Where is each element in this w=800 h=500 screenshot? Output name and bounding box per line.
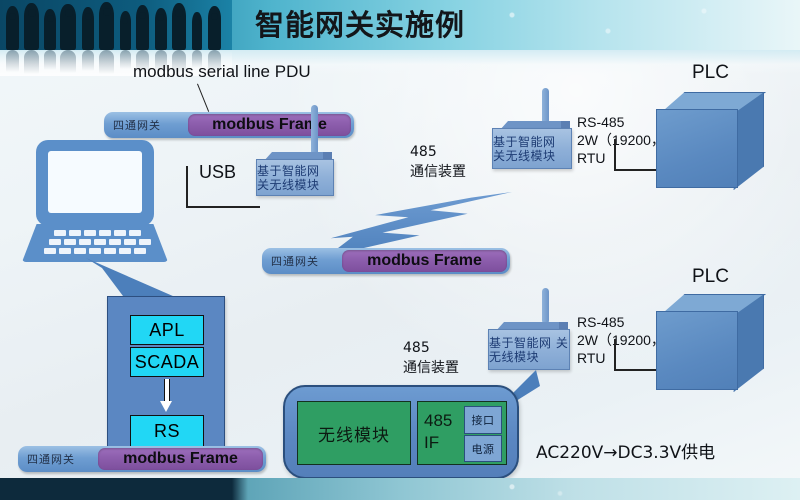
cube-front-face <box>656 311 738 390</box>
cube-front-face <box>656 109 738 188</box>
subbox-power: 电源 <box>464 435 502 462</box>
usb-line-vertical <box>186 166 188 208</box>
slide-footer-band <box>0 478 800 500</box>
antenna-mid <box>311 105 318 155</box>
usb-label: USB <box>199 162 236 183</box>
green-wireless-module: 无线模块 <box>297 401 411 465</box>
wireless-module-top: 基于智能网 关无线模块 <box>492 121 570 169</box>
power-supply-note: AC220V→DC3.3V供电 <box>536 438 715 463</box>
wireless-module-top-label: 基于智能网 关无线模块 <box>492 128 572 169</box>
plc-label-bottom: PLC <box>692 266 729 288</box>
laptop-icon <box>22 140 168 264</box>
stack-layer-rs: RS <box>130 415 204 447</box>
stack-layer-scada: SCADA <box>130 347 204 377</box>
slide-canvas: 智能网关实施例 modbus serial line PDU 四通网关 modb… <box>0 0 800 500</box>
plc-cube-top <box>656 92 764 188</box>
laptop-screen <box>48 151 142 213</box>
gateway-label-middle: 四通网关 <box>271 248 319 274</box>
laptop-to-stack-callout <box>86 258 182 300</box>
device-enclosure: 无线模块 485 IF 接口 电源 <box>283 385 519 479</box>
plc-cube-bottom <box>656 294 764 390</box>
frame-bar-bottom: 四通网关 modbus Frame <box>18 446 266 472</box>
plc-label-top: PLC <box>692 62 729 84</box>
stack-layer-apl: APL <box>130 315 204 345</box>
gateway-label-bottom: 四通网关 <box>27 446 75 472</box>
green-485-if-module: 485 IF 接口 电源 <box>417 401 507 465</box>
wireless-module-bottom-label: 基于智能网 关无线模块 <box>488 329 570 370</box>
wireless-module-usb-label: 基于智能网 关无线模块 <box>256 159 334 196</box>
frame-bar-middle: 四通网关 modbus Frame <box>262 248 510 274</box>
rs485-line-vertical-bottom <box>614 339 616 371</box>
laptop-lid <box>36 140 154 226</box>
if-485-label: 485 IF <box>424 410 452 454</box>
stack-flow-arrow <box>160 379 172 413</box>
modbus-frame-label-top: modbus Frame <box>188 114 351 136</box>
rs485-line-vertical-top <box>614 139 616 171</box>
pdu-leader-line <box>197 83 210 111</box>
protocol-stack-panel: APL SCADA RS <box>107 296 225 456</box>
device-485-label-bottom: 485 通信装置 <box>403 338 459 378</box>
device-485-label-top: 485 通信装置 <box>410 142 466 182</box>
laptop-base <box>22 224 168 262</box>
page-title: 智能网关实施例 <box>255 5 595 47</box>
modbus-frame-label-middle: modbus Frame <box>342 250 507 272</box>
usb-line-horizontal <box>186 206 260 208</box>
gateway-label-top: 四通网关 <box>113 112 161 138</box>
wireless-module-bottom: 基于智能网 关无线模块 <box>488 322 568 370</box>
wireless-module-usb: 基于智能网 关无线模块 <box>256 152 332 196</box>
pdu-annotation-label: modbus serial line PDU <box>133 62 311 82</box>
antenna-top <box>542 88 549 124</box>
subbox-interface: 接口 <box>464 406 502 434</box>
people-silhouette-graphic <box>0 0 232 50</box>
modbus-frame-label-bottom: modbus Frame <box>98 448 263 470</box>
antenna-bottom <box>542 288 549 324</box>
wireless-module-enclosure-label: 无线模块 <box>298 402 410 464</box>
